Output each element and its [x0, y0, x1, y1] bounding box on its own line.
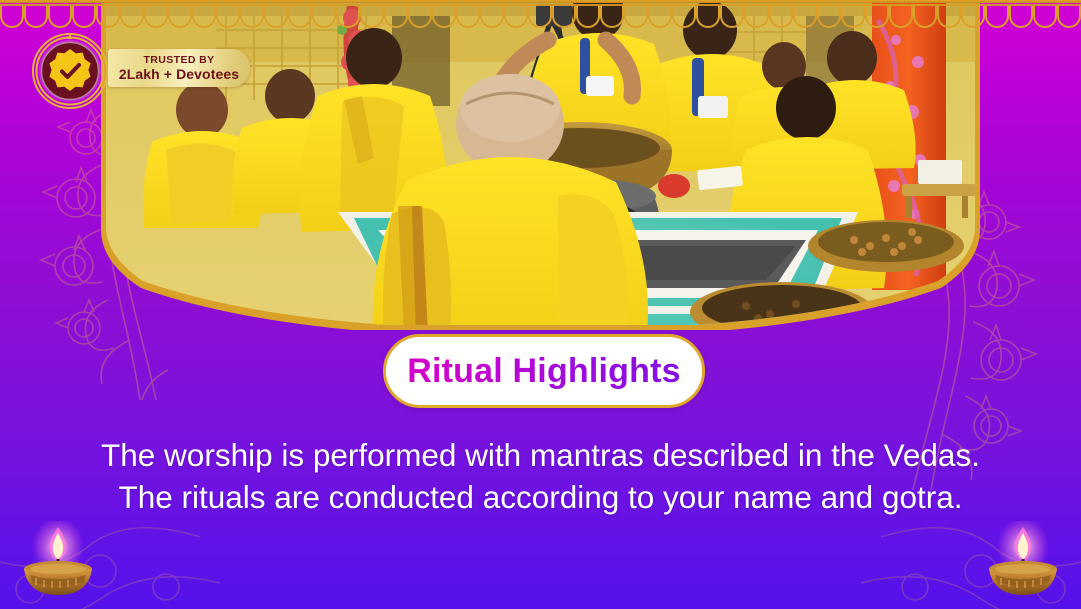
valance-scallop [288, 6, 312, 28]
diya-lamp-icon [973, 521, 1073, 601]
valance-scallop [384, 6, 408, 28]
poster-canvas: TRUSTED BY 2Lakh + Devotees Ritual Highl… [0, 0, 1081, 609]
devotee-count-label: 2Lakh + Devotees [119, 66, 239, 82]
valance-scallop [937, 6, 961, 28]
valance-scallop [528, 6, 552, 28]
valance-scallop [48, 6, 72, 28]
body-copy: The worship is performed with mantras de… [0, 434, 1081, 518]
valance-scallop [72, 6, 96, 28]
valance-scallop [120, 6, 144, 28]
valance-scallop [24, 6, 48, 28]
valance-scallop [889, 6, 913, 28]
valance-scallop [432, 6, 456, 28]
valance-scallop [648, 6, 672, 28]
valance-scallop [240, 6, 264, 28]
valance-scallop [336, 6, 360, 28]
page-title: Ritual Highlights [407, 352, 681, 391]
valance-scallop [696, 6, 720, 28]
valance-scallop [456, 6, 480, 28]
valance-scallop [144, 6, 168, 28]
valance-scallop [312, 6, 336, 28]
valance-scallop [841, 6, 865, 28]
verified-check-seal-icon [32, 33, 108, 109]
valance-scallop [985, 6, 1009, 28]
valance-scallop [1033, 6, 1057, 28]
valance-scallop [552, 6, 576, 28]
valance-scallop [360, 6, 384, 28]
valance-scallop [0, 6, 24, 28]
body-line-1: The worship is performed with mantras de… [0, 434, 1081, 476]
diya-lamp-icon [8, 521, 108, 601]
valance-scallop [168, 6, 192, 28]
valance-scallop [624, 6, 648, 28]
valance-scallop [913, 6, 937, 28]
valance-scallop [865, 6, 889, 28]
ritual-highlights-title-pill: Ritual Highlights [383, 334, 705, 408]
valance-scallop [408, 6, 432, 28]
valance-scallop [216, 6, 240, 28]
valance-scallop [672, 6, 696, 28]
valance-scallop [769, 6, 793, 28]
valance-scallop [264, 6, 288, 28]
trusted-by-label: TRUSTED BY [143, 54, 214, 66]
valance-scallop [192, 6, 216, 28]
scalloped-valance-icon [0, 0, 1081, 30]
valance-scallop [576, 6, 600, 28]
valance-scallop [817, 6, 841, 28]
valance-scallops [0, 6, 1081, 30]
valance-scallop [504, 6, 528, 28]
valance-scallop [1009, 6, 1033, 28]
trusted-by-ribbon: TRUSTED BY 2Lakh + Devotees [108, 49, 250, 87]
valance-scallop [793, 6, 817, 28]
body-line-2: The rituals are conducted according to y… [0, 476, 1081, 518]
valance-scallop [720, 6, 744, 28]
valance-bar-top [0, 0, 1081, 3]
valance-scallop [961, 6, 985, 28]
valance-scallop [744, 6, 768, 28]
valance-scallop [480, 6, 504, 28]
valance-scallop [96, 6, 120, 28]
valance-scallop [600, 6, 624, 28]
valance-scallop [1057, 6, 1081, 28]
